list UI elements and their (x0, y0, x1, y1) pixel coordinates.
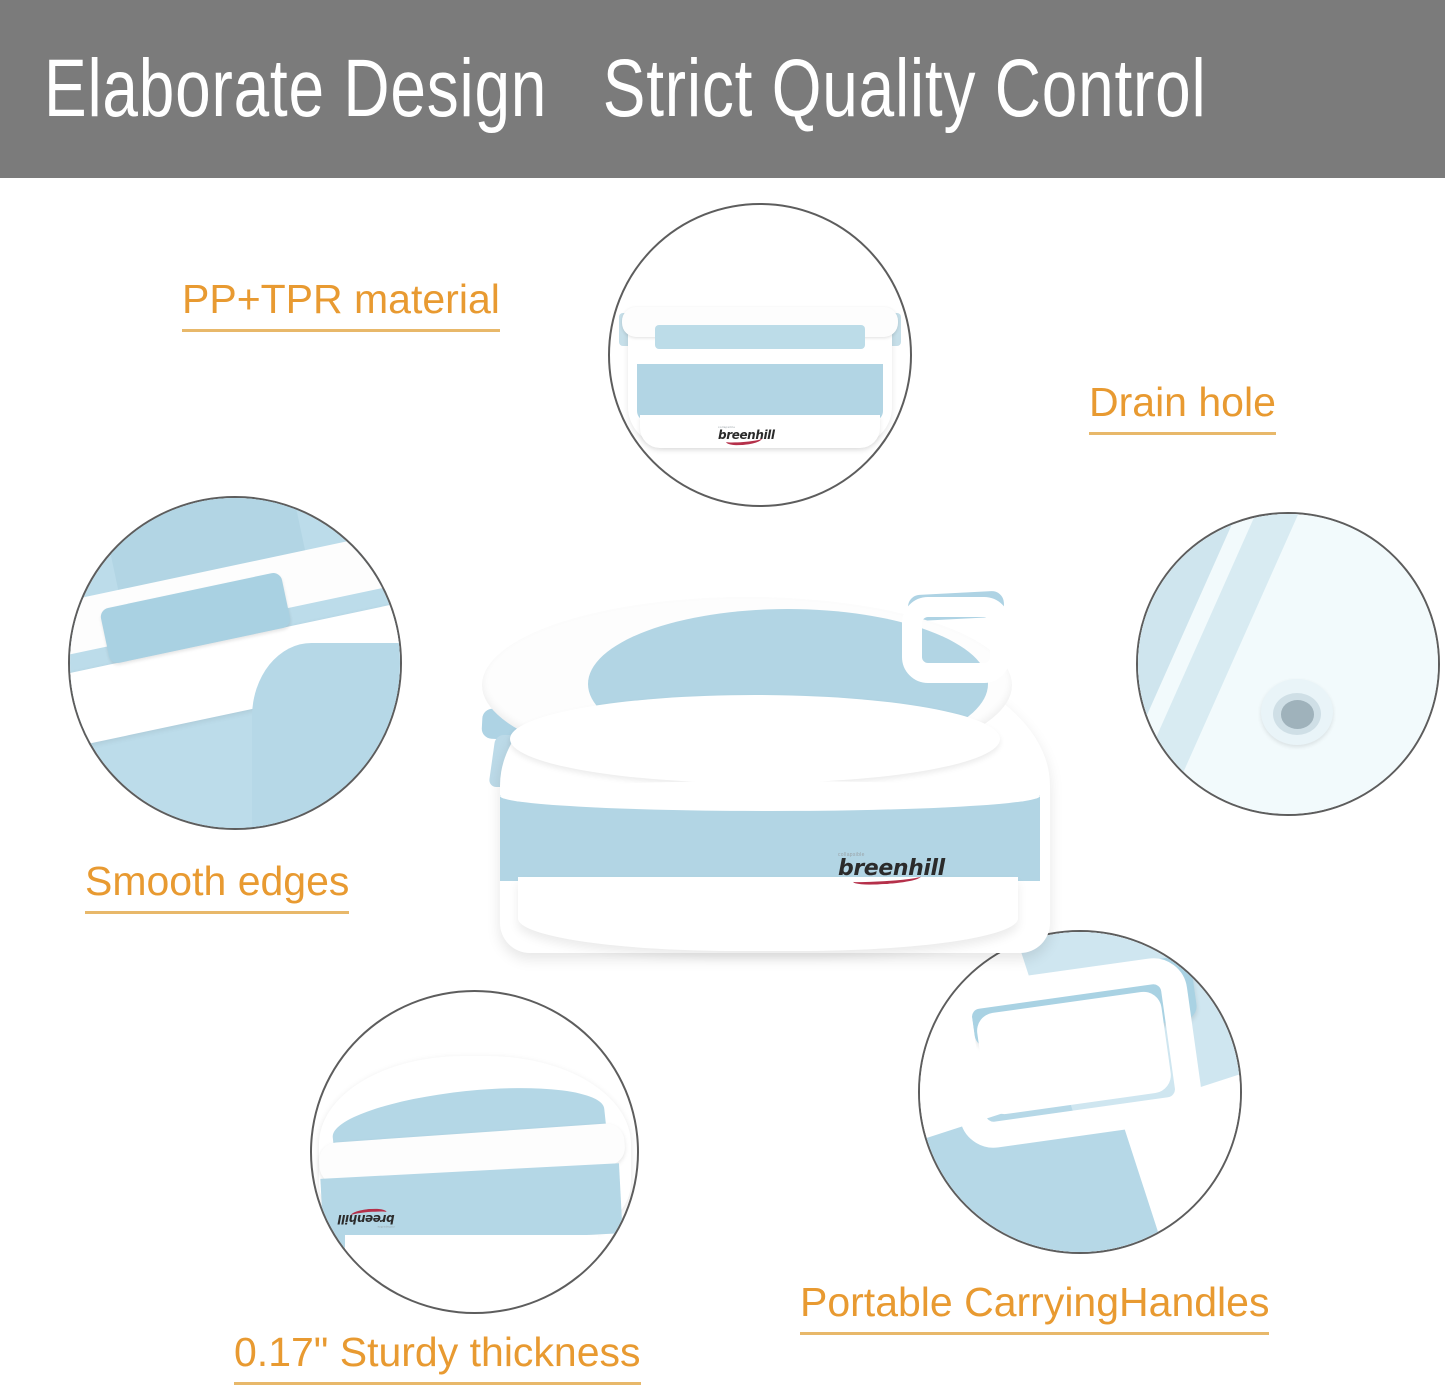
product-stripe-top-curve (500, 781, 1040, 811)
brand-logo: collapsible breenhill (718, 426, 775, 441)
callout-label-handles: Portable CarryingHandles (800, 1281, 1269, 1335)
main-product-image: collapsible breenhill (470, 585, 1080, 975)
basin-blue-stripe (637, 364, 883, 421)
page-title: Elaborate Design Strict Quality Control (44, 48, 1206, 130)
callout-label-thickness: 0.17" Sturdy thickness (234, 1331, 641, 1385)
material-detail-image: collapsible breenhill (610, 205, 910, 505)
edges-detail-image (70, 498, 400, 828)
drain-detail-image (1138, 514, 1438, 814)
detail-circle-material: collapsible breenhill (608, 203, 912, 507)
product-base (518, 877, 1018, 951)
detail-circle-thickness: collapsible breenhill (310, 990, 639, 1314)
drain-plug-hole (1281, 700, 1314, 729)
header-banner: Elaborate Design Strict Quality Control (0, 0, 1445, 178)
product-handle-right (902, 597, 1010, 683)
thickness-detail-image: collapsible breenhill (312, 992, 637, 1312)
detail-circle-edges (68, 496, 402, 830)
collapsed-basin-base (345, 1235, 599, 1283)
handles-detail-image (920, 932, 1240, 1252)
brand-logo-inverted: collapsible breenhill (338, 1213, 395, 1228)
basin-cavity (655, 325, 865, 349)
product-front-rim (510, 695, 1000, 783)
callout-label-material: PP+TPR material (182, 278, 500, 332)
detail-circle-handles (918, 930, 1242, 1254)
callout-label-drain: Drain hole (1089, 381, 1276, 435)
edge-basin-wall (252, 643, 401, 828)
brand-logo: collapsible breenhill (838, 853, 945, 880)
detail-circle-drain (1136, 512, 1440, 816)
callout-label-edges: Smooth edges (85, 860, 349, 914)
